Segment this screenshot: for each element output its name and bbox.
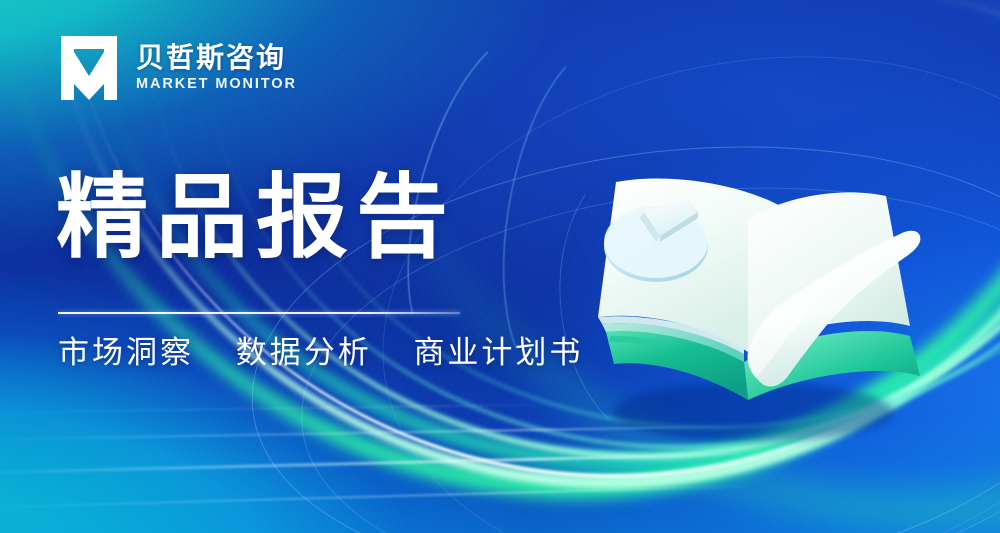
brand-logo[interactable]: 贝哲斯咨询 MARKET MONITOR xyxy=(58,36,297,100)
subtitle-item-3: 商业计划书 xyxy=(413,335,583,371)
title-divider xyxy=(58,312,460,314)
subtitle-item-1: 市场洞察 xyxy=(58,335,194,371)
company-name-cn: 贝哲斯咨询 xyxy=(136,44,297,72)
company-name-en: MARKET MONITOR xyxy=(136,77,297,92)
logo-text-block: 贝哲斯咨询 MARKET MONITOR xyxy=(136,44,297,92)
page-title: 精品报告 xyxy=(56,172,456,264)
subtitle-line: 市场洞察 数据分析 商业计划书 xyxy=(58,334,583,373)
m-bracket-logo-icon xyxy=(58,36,120,100)
report-banner: 贝哲斯咨询 MARKET MONITOR 精品报告 市场洞察 数据分析 商业计划… xyxy=(0,0,1000,533)
subtitle-item-2: 数据分析 xyxy=(236,335,372,371)
